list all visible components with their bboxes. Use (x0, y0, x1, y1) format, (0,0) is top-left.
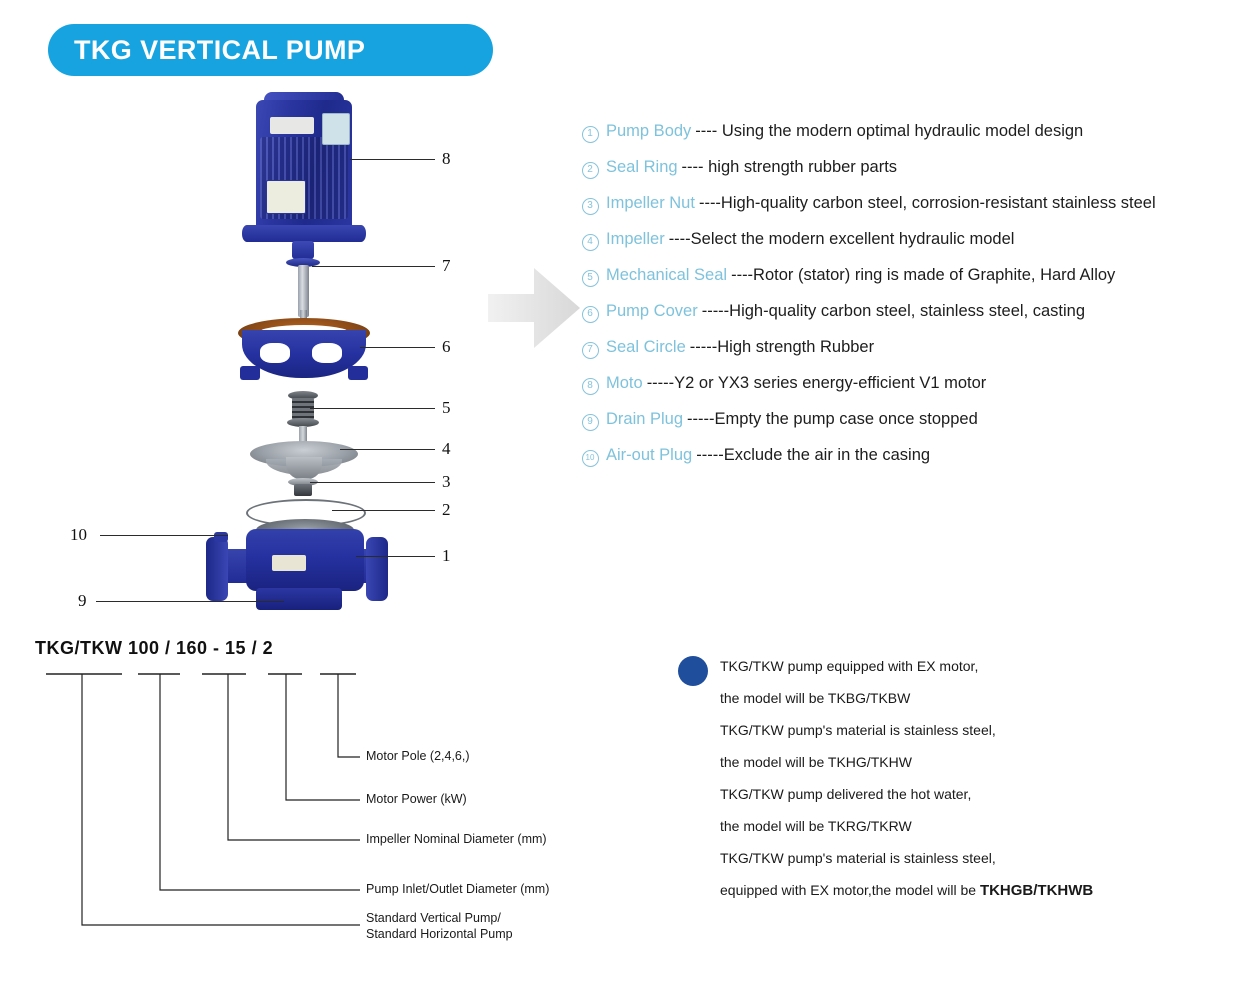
legend-part-desc-4: ----Select the modern excellent hydrauli… (669, 230, 1015, 249)
pump-cover-foot-left-art (240, 366, 260, 380)
note-line-4: the model will be TKHG/TKHW (720, 746, 1198, 778)
legend-item-9: 9 Drain Plug -----Empty the pump case on… (580, 410, 1230, 446)
callout-number-4: 4 (442, 439, 451, 459)
pump-inlet-flange-art (206, 537, 228, 601)
legend-number-6: 6 (580, 304, 600, 323)
model-code-breakdown: TKG/TKW 100 / 160 - 15 / 2 Motor Pole (2… (30, 630, 610, 960)
mechanical-seal-pin-art (299, 426, 307, 442)
leader-line-1 (356, 556, 435, 557)
legend-part-name-3: Impeller Nut (606, 194, 695, 213)
callout-number-7: 7 (442, 256, 451, 276)
legend-number-4: 4 (580, 232, 600, 251)
legend-part-desc-7: -----High strength Rubber (690, 338, 874, 357)
legend-part-desc-5: ----Rotor (stator) ring is made of Graph… (731, 266, 1115, 285)
note-line-6: the model will be TKRG/TKRW (720, 810, 1198, 842)
shaft-collar-art (292, 241, 314, 259)
leader-line-2 (332, 510, 435, 511)
legend-item-1: 1 Pump Body ---- Using the modern optima… (580, 122, 1230, 158)
legend-number-7: 7 (580, 340, 600, 359)
title-banner: TKG VERTICAL PUMP (48, 24, 493, 76)
legend-part-name-8: Moto (606, 374, 643, 393)
legend-item-7: 7 Seal Circle -----High strength Rubber (580, 338, 1230, 374)
callout-number-10: 10 (70, 525, 87, 545)
motor-nameplate-art (270, 117, 314, 134)
legend-part-name-7: Seal Circle (606, 338, 686, 357)
note-line-2: the model will be TKBG/TKBW (720, 682, 1198, 714)
exploded-pump-diagram: 8 7 6 5 4 3 2 1 10 9 (60, 85, 480, 605)
leader-line-8 (350, 159, 435, 160)
mechanical-seal-stack-art (292, 398, 314, 420)
legend-number-8: 8 (580, 376, 600, 395)
pump-cover-foot-right-art (348, 366, 368, 380)
pump-outlet-flange-art (366, 537, 388, 601)
model-variant-notes: TKG/TKW pump equipped with EX motor, the… (678, 650, 1198, 907)
page-title: TKG VERTICAL PUMP (74, 35, 365, 66)
legend-part-desc-3: ----High-quality carbon steel, corrosion… (699, 194, 1156, 213)
leader-line-3 (310, 482, 435, 483)
pump-base-art (256, 588, 342, 610)
legend-part-name-5: Mechanical Seal (606, 266, 727, 285)
flow-arrow-icon (488, 262, 580, 354)
legend-part-name-2: Seal Ring (606, 158, 678, 177)
callout-number-2: 2 (442, 500, 451, 520)
legend-part-name-10: Air-out Plug (606, 446, 692, 465)
note-line-8: equipped with EX motor,the model will be… (720, 874, 1198, 907)
legend-item-4: 4 Impeller ----Select the modern excelle… (580, 230, 1230, 266)
legend-part-name-4: Impeller (606, 230, 665, 249)
callout-number-8: 8 (442, 149, 451, 169)
code-callout-motor-pole: Motor Pole (2,4,6,) (366, 749, 470, 764)
legend-number-1: 1 (580, 124, 600, 143)
legend-number-5: 5 (580, 268, 600, 287)
legend-part-desc-8: -----Y2 or YX3 series energy-efficient V… (647, 374, 987, 393)
legend-number-9: 9 (580, 412, 600, 431)
code-callout-pump-series-line2: Standard Horizontal Pump (366, 927, 513, 942)
callout-number-5: 5 (442, 398, 451, 418)
legend-part-desc-6: -----High-quality carbon steel, stainles… (702, 302, 1085, 321)
callout-number-6: 6 (442, 337, 451, 357)
leader-line-10 (100, 535, 228, 536)
note-line-7: TKG/TKW pump's material is stainless ste… (720, 842, 1198, 874)
legend-part-name-9: Drain Plug (606, 410, 683, 429)
leader-line-6 (360, 347, 435, 348)
impeller-hub-art (286, 457, 322, 479)
callout-number-3: 3 (442, 472, 451, 492)
code-callout-motor-power: Motor Power (kW) (366, 792, 467, 807)
legend-part-name-6: Pump Cover (606, 302, 698, 321)
legend-number-3: 3 (580, 196, 600, 215)
note-line-1: TKG/TKW pump equipped with EX motor, (720, 650, 1198, 682)
legend-part-desc-10: -----Exclude the air in the casing (696, 446, 930, 465)
legend-number-10: 10 (580, 448, 600, 467)
code-callout-pump-series-line1: Standard Vertical Pump/ (366, 911, 501, 926)
legend-item-5: 5 Mechanical Seal ----Rotor (stator) rin… (580, 266, 1230, 302)
legend-part-name-1: Pump Body (606, 122, 691, 141)
leader-line-7 (312, 266, 435, 267)
model-code-leader-lines (30, 630, 610, 960)
note-line-8-model: TKHGB/TKHWB (980, 882, 1093, 899)
legend-number-2: 2 (580, 160, 600, 179)
pump-cover-window-left-art (260, 343, 290, 363)
pump-cover-window-right-art (312, 343, 342, 363)
leader-line-5 (310, 408, 435, 409)
legend-item-6: 6 Pump Cover -----High-quality carbon st… (580, 302, 1230, 338)
note-line-5: TKG/TKW pump delivered the hot water, (720, 778, 1198, 810)
legend-part-desc-9: -----Empty the pump case once stopped (687, 410, 978, 429)
pump-body-nameplate-art (272, 555, 306, 571)
legend-item-8: 8 Moto -----Y2 or YX3 series energy-effi… (580, 374, 1230, 410)
leader-line-9 (96, 601, 284, 602)
motor-terminal-box-art (266, 180, 306, 214)
note-line-3: TKG/TKW pump's material is stainless ste… (720, 714, 1198, 746)
legend-item-2: 2 Seal Ring ---- high strength rubber pa… (580, 158, 1230, 194)
code-callout-impeller-diameter: Impeller Nominal Diameter (mm) (366, 832, 547, 847)
legend-part-desc-1: ---- Using the modern optimal hydraulic … (695, 122, 1083, 141)
note-line-8-text: equipped with EX motor,the model will be (720, 882, 980, 898)
legend-item-3: 3 Impeller Nut ----High-quality carbon s… (580, 194, 1230, 230)
impeller-nut-art (294, 484, 312, 496)
parts-legend: 1 Pump Body ---- Using the modern optima… (580, 122, 1230, 482)
motor-flange-art (242, 225, 366, 242)
callout-number-9: 9 (78, 591, 87, 611)
legend-part-desc-2: ---- high strength rubber parts (682, 158, 898, 177)
legend-item-10: 10 Air-out Plug -----Exclude the air in … (580, 446, 1230, 482)
air-out-plug-art (214, 532, 228, 542)
leader-line-4 (340, 449, 435, 450)
code-callout-inlet-outlet-diameter: Pump Inlet/Outlet Diameter (mm) (366, 882, 549, 897)
motor-label-art (322, 113, 350, 145)
bullet-point-icon (678, 656, 708, 686)
callout-number-1: 1 (442, 546, 451, 566)
